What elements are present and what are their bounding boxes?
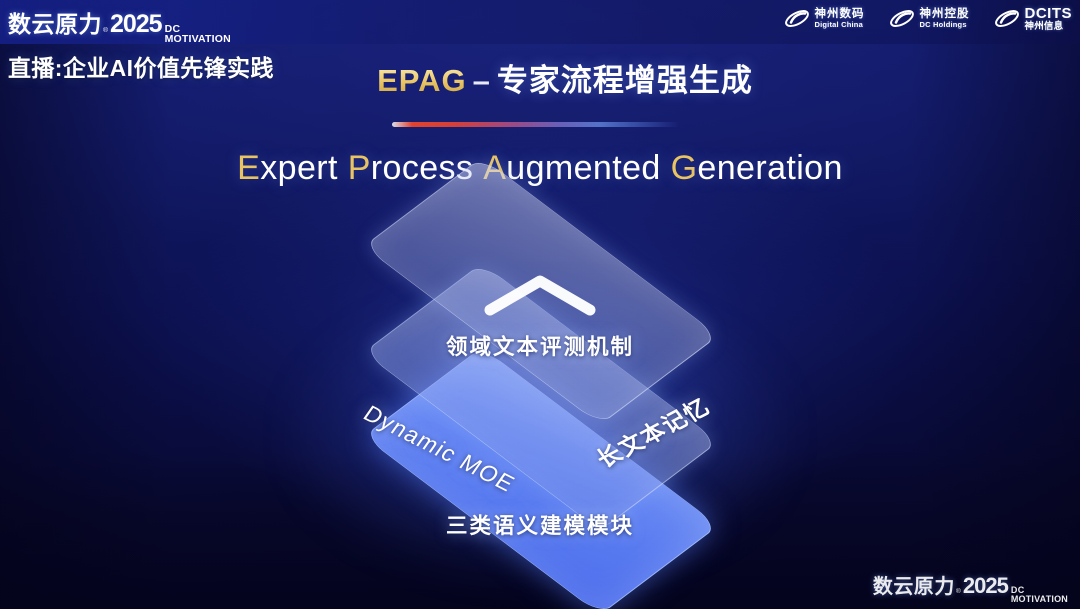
layer-stack-diagram: 领域文本评测机制 Dynamic MOE 长文本记忆 三类语义建模模块 <box>0 0 1080 609</box>
watermark-registered-mark: ® <box>956 588 961 595</box>
layer-label-top: 领域文本评测机制 <box>0 330 1080 361</box>
watermark-year: 2025 <box>963 573 1008 599</box>
watermark-motivation: MOTIVATION <box>1011 595 1068 603</box>
watermark-logo: 数云原力 ® 2025 DC MOTIVATION <box>873 570 1068 603</box>
slide-canvas: 数云原力 ® 2025 DC MOTIVATION 直播:企业AI价值先锋实践 … <box>0 0 1080 609</box>
watermark-cn: 数云原力 <box>873 570 955 599</box>
layer-label-bottom: 三类语义建模模块 <box>0 509 1080 540</box>
watermark-dc-motivation: DC MOTIVATION <box>1011 586 1068 603</box>
